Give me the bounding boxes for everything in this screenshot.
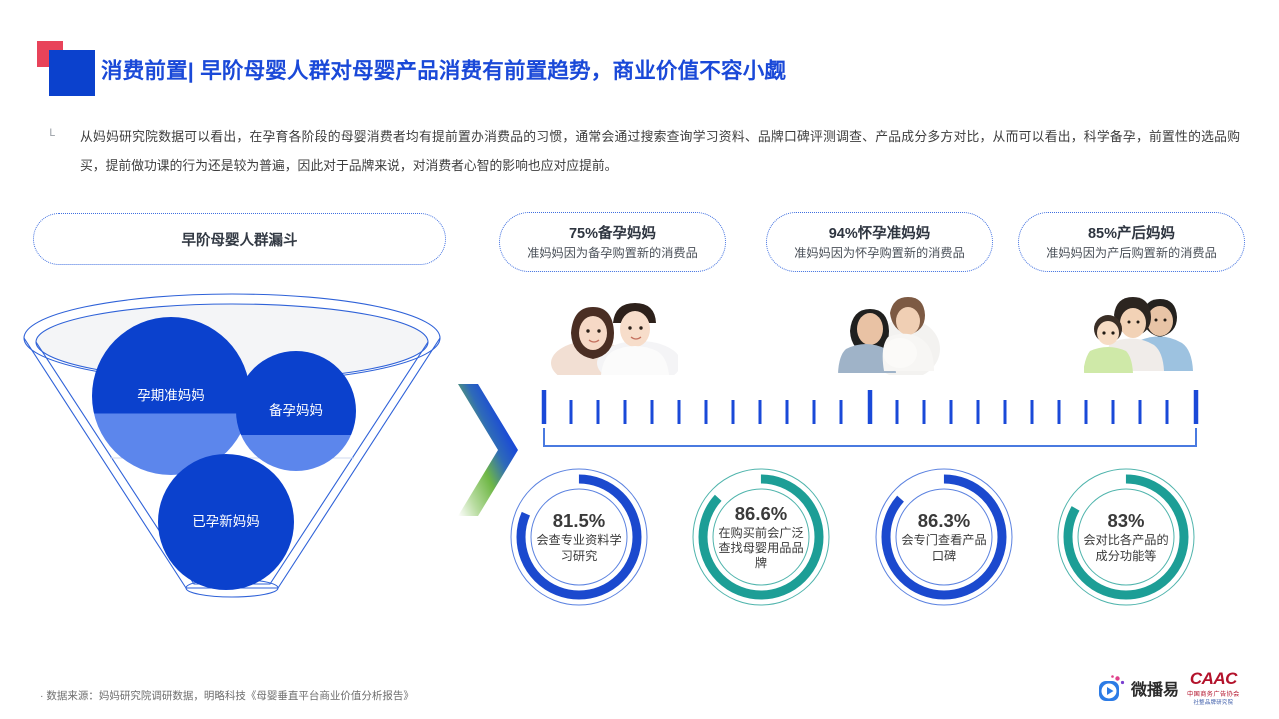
- funnel-bubble-1-label: 备孕妈妈: [269, 403, 323, 419]
- funnel-bubble-0-label: 孕期准妈妈: [137, 388, 205, 404]
- donut-chart-1-label: 86.6% 在购买前会广泛查找母婴用品品牌: [687, 463, 835, 611]
- expecting-couple-photo: [838, 287, 948, 375]
- page-title: 消费前置| 早阶母婴人群对母婴产品消费有前置趋势，商业价值不容小觑: [101, 54, 786, 85]
- footer-logos: 微播易 CAAC 中国商务广告协会 社整品牌研究院: [1097, 669, 1240, 706]
- stat-card-0: 75%备孕妈妈 准妈妈因为备孕购置新的消费品: [499, 212, 726, 272]
- paragraph-bullet-icon: L: [49, 128, 56, 140]
- donut-chart-0: 81.5% 会查专业资料学习研究: [505, 463, 653, 611]
- stat-card-1-head: 94%怀孕准妈妈: [781, 222, 978, 243]
- funnel-bubble-0[interactable]: 孕期准妈妈: [92, 317, 250, 475]
- funnel-bubble-1[interactable]: 备孕妈妈: [236, 351, 356, 471]
- donut-chart-2-value: 86.3%: [918, 510, 970, 532]
- header-accent-blue-square: [49, 50, 95, 96]
- young-couple-photo: [551, 285, 678, 375]
- funnel-bubble-2-label: 已孕新妈妈: [192, 514, 260, 530]
- timeline-ruler: [540, 388, 1200, 450]
- donut-chart-3-caption: 会对比各产品的成分功能等: [1082, 533, 1170, 563]
- caac-logo: CAAC 中国商务广告协会 社整品牌研究院: [1187, 669, 1240, 706]
- weiboyi-logo-text: 微播易: [1131, 676, 1179, 700]
- funnel-bubble-2[interactable]: 已孕新妈妈: [158, 454, 294, 590]
- donut-chart-0-label: 81.5% 会查专业资料学习研究: [505, 463, 653, 611]
- funnel-graphic: 孕期准妈妈 备孕妈妈 已孕新妈妈: [14, 288, 454, 618]
- donut-chart-3-label: 83% 会对比各产品的成分功能等: [1052, 463, 1200, 611]
- stat-card-2-sub: 准妈妈因为产后购置新的消费品: [1033, 245, 1230, 261]
- funnel-title-label: 早阶母婴人群漏斗: [182, 229, 298, 250]
- donut-chart-1-caption: 在购买前会广泛查找母婴用品品牌: [717, 526, 805, 571]
- donut-chart-1-value: 86.6%: [735, 503, 787, 525]
- stat-card-2: 85%产后妈妈 准妈妈因为产后购置新的消费品: [1018, 212, 1245, 272]
- stat-card-0-sub: 准妈妈因为备孕购置新的消费品: [514, 245, 711, 261]
- stat-card-2-head: 85%产后妈妈: [1033, 222, 1230, 243]
- caac-logo-sub1: 中国商务广告协会: [1187, 689, 1240, 698]
- donut-chart-3-value: 83%: [1107, 510, 1144, 532]
- stat-card-1: 94%怀孕准妈妈 准妈妈因为怀孕购置新的消费品: [766, 212, 993, 272]
- caac-logo-sub2: 社整品牌研究院: [1193, 698, 1233, 706]
- donut-chart-0-value: 81.5%: [553, 510, 605, 532]
- donut-chart-2: 86.3% 会专门查看产品口碑: [870, 463, 1018, 611]
- data-source-note: · 数据来源：妈妈研究院调研数据，明略科技《母婴垂直平台商业价值分析报告》: [40, 688, 414, 703]
- donut-chart-1: 86.6% 在购买前会广泛查找母婴用品品牌: [687, 463, 835, 611]
- funnel-title-pill: 早阶母婴人群漏斗: [33, 213, 446, 265]
- slide-root: 消费前置| 早阶母婴人群对母婴产品消费有前置趋势，商业价值不容小觑 L 从妈妈研…: [0, 0, 1279, 719]
- stat-card-1-sub: 准妈妈因为怀孕购置新的消费品: [781, 245, 978, 261]
- donut-chart-0-caption: 会查专业资料学习研究: [535, 533, 623, 563]
- caac-logo-main: CAAC: [1190, 669, 1237, 689]
- family-with-baby-photo: [1084, 289, 1197, 375]
- intro-paragraph: 从妈妈研究院数据可以看出，在孕育各阶段的母婴消费者均有提前置办消费品的习惯，通常…: [80, 122, 1240, 180]
- stat-card-0-head: 75%备孕妈妈: [514, 222, 711, 243]
- weiboyi-logo: 微播易: [1097, 673, 1179, 703]
- donut-chart-2-label: 86.3% 会专门查看产品口碑: [870, 463, 1018, 611]
- donut-chart-2-caption: 会专门查看产品口碑: [900, 533, 988, 563]
- play-button-icon: [1097, 673, 1127, 703]
- donut-chart-3: 83% 会对比各产品的成分功能等: [1052, 463, 1200, 611]
